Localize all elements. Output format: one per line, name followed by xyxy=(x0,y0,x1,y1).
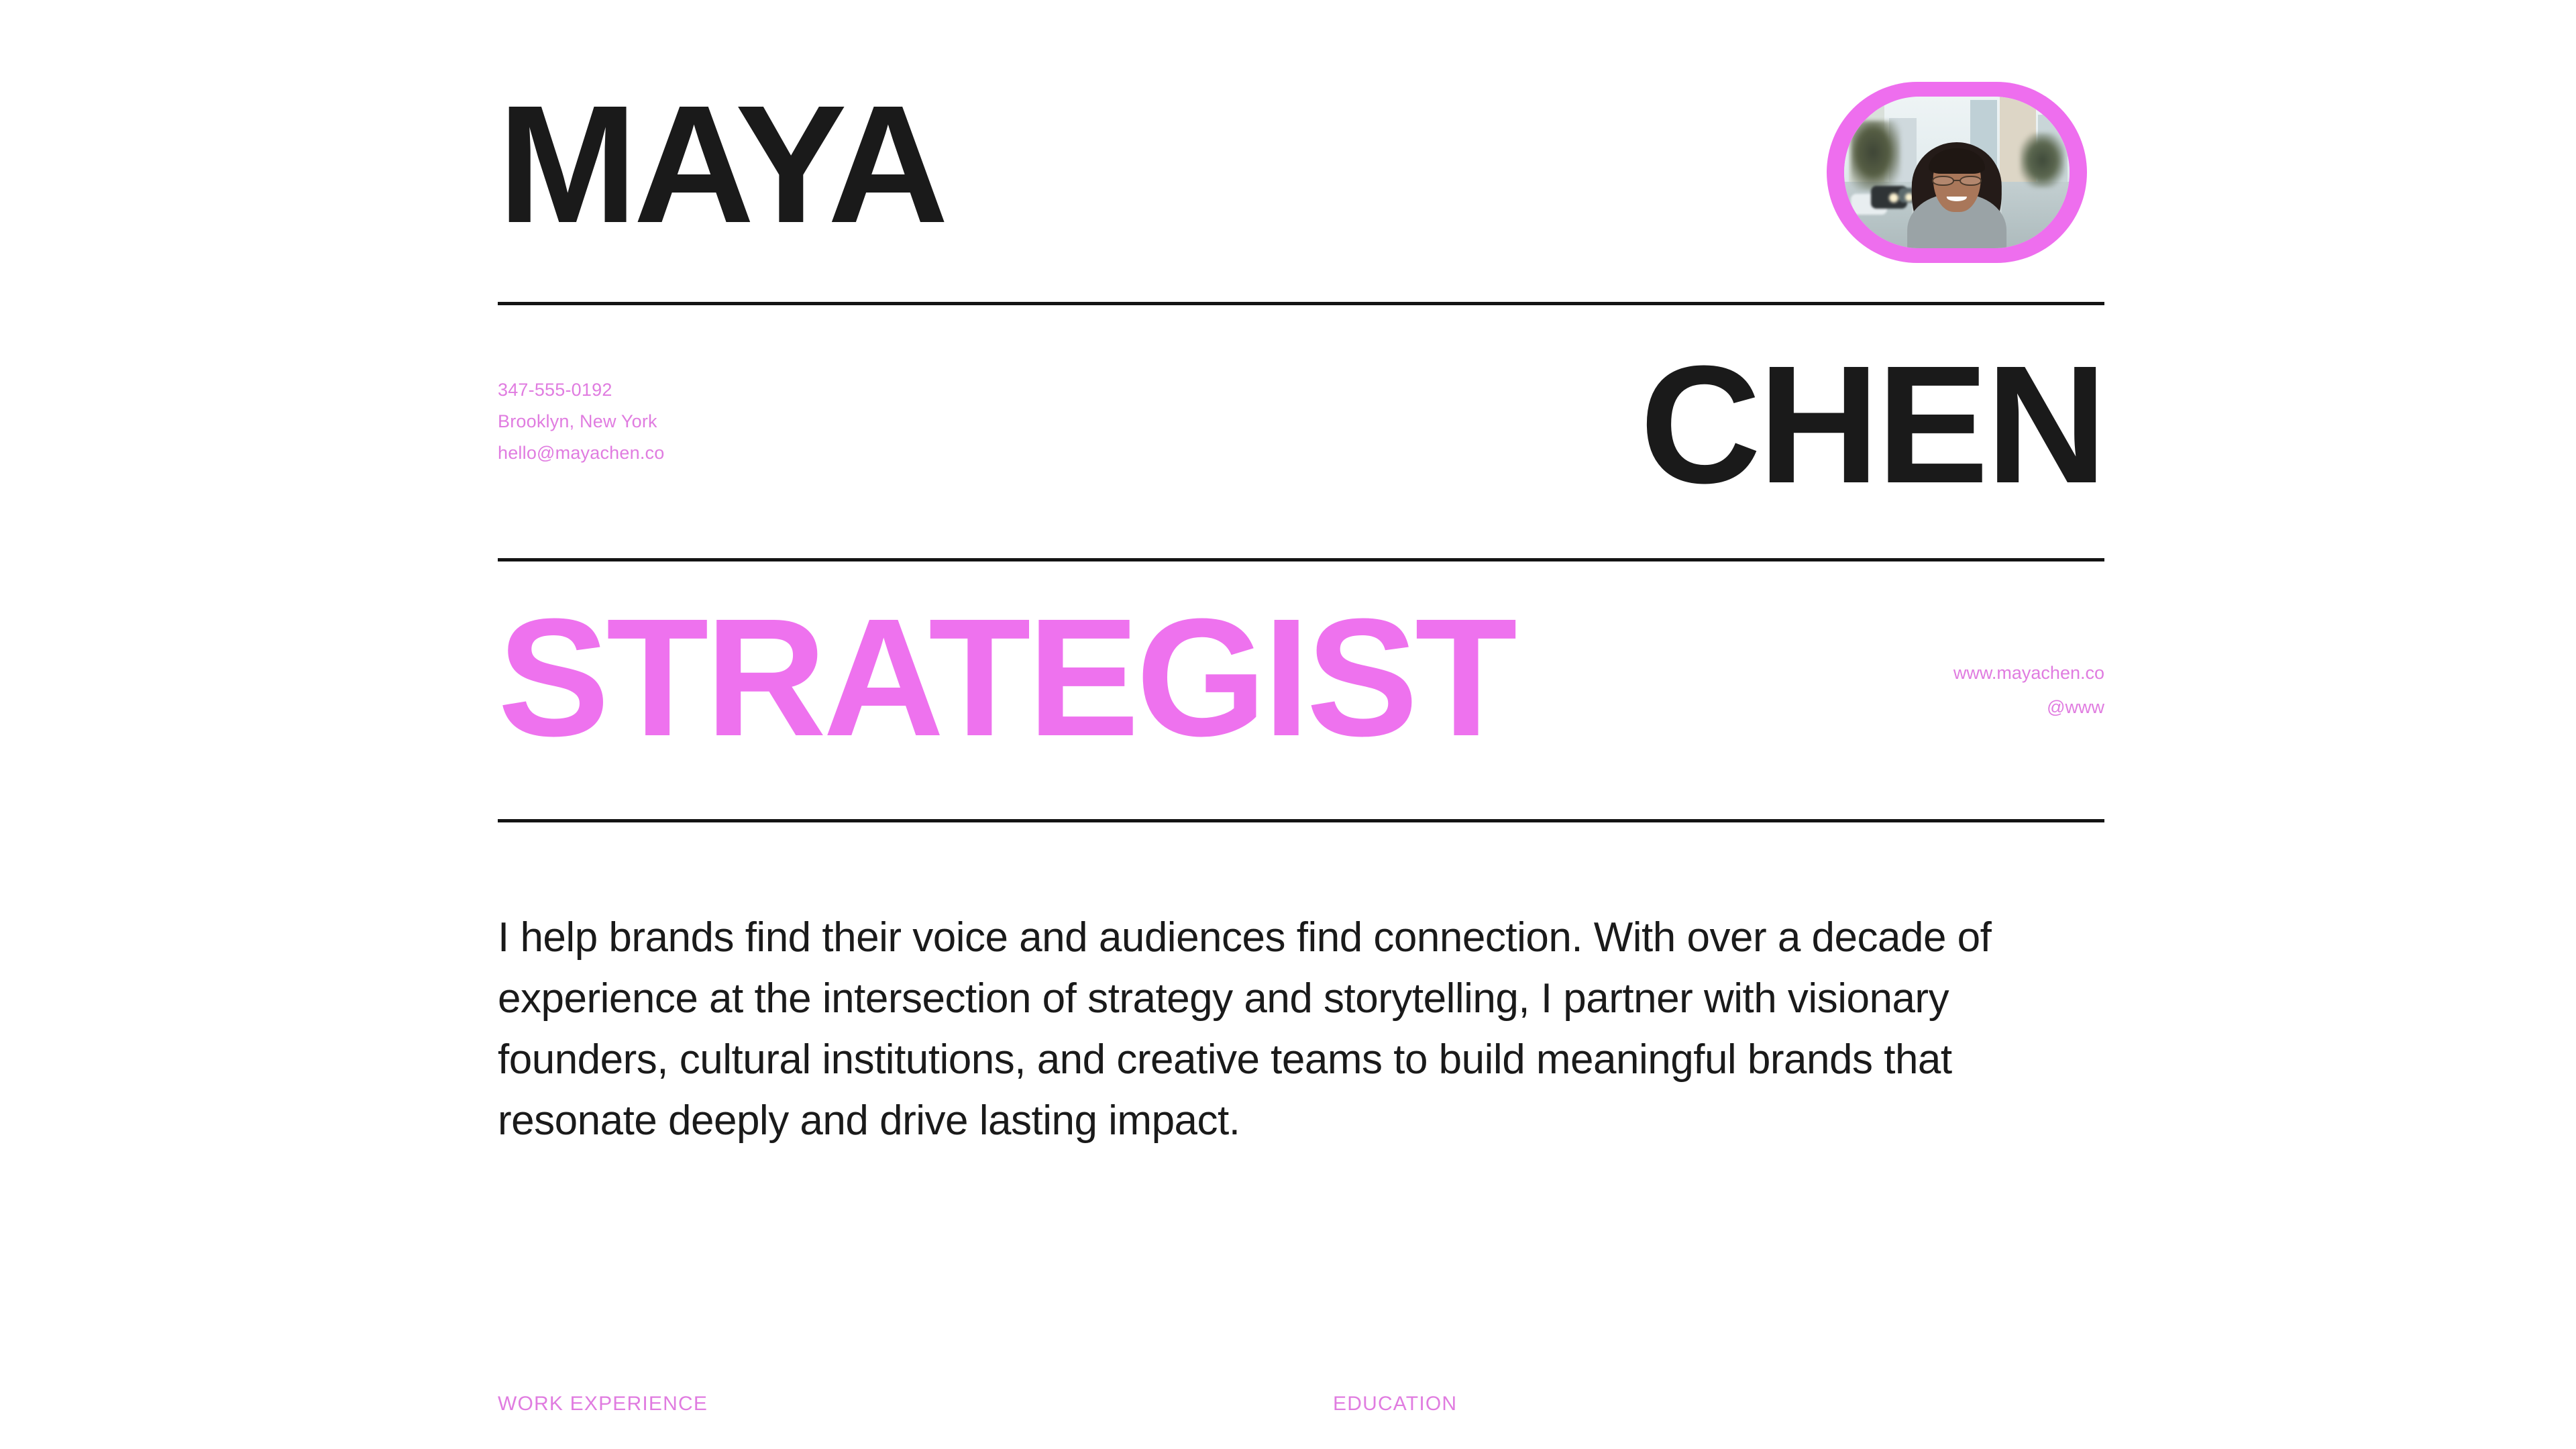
photo-tree xyxy=(2020,133,2065,187)
role-title-heading: STRATEGIST xyxy=(498,594,1514,761)
social-handle-link[interactable]: @www xyxy=(2047,698,2104,716)
divider-bottom xyxy=(498,819,2104,822)
links-block: www.mayachen.co @www xyxy=(1953,664,2104,716)
contact-block: 347-555-0192 Brooklyn, New York hello@ma… xyxy=(498,381,664,462)
last-name-heading: CHEN xyxy=(1640,341,2104,508)
first-name-heading: MAYA xyxy=(498,80,945,248)
website-link[interactable]: www.mayachen.co xyxy=(1953,664,2104,682)
portrait-photo xyxy=(1844,97,2070,248)
divider-middle xyxy=(498,558,2104,561)
glasses-lens-left xyxy=(1932,176,1954,186)
contact-phone[interactable]: 347-555-0192 xyxy=(498,381,664,399)
bio-paragraph: I help brands find their voice and audie… xyxy=(498,907,2108,1151)
contact-location: Brooklyn, New York xyxy=(498,413,664,431)
portrait-frame xyxy=(1827,82,2087,263)
contact-email[interactable]: hello@mayachen.co xyxy=(498,444,664,462)
section-label-work-experience: WORK EXPERIENCE xyxy=(498,1394,708,1414)
glasses-lens-right xyxy=(1960,176,1982,186)
divider-top xyxy=(498,302,2104,305)
resume-page: MAYA xyxy=(0,0,2576,1449)
photo-person-glasses xyxy=(1932,176,1982,186)
photo-tree xyxy=(1851,121,1900,191)
section-label-education: EDUCATION xyxy=(1333,1394,1457,1414)
